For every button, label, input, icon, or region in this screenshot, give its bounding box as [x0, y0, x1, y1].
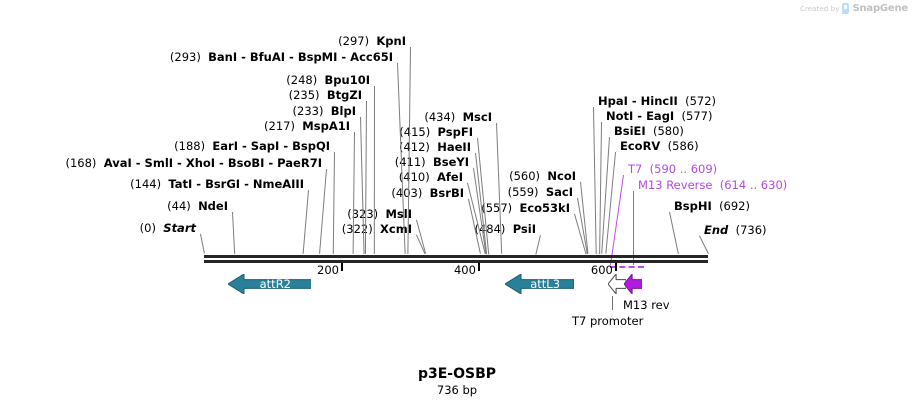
feature-caption-m13-rev: M13 rev: [623, 298, 670, 312]
feature-arrow-shape-t7-promoter: [608, 274, 626, 294]
enzyme-position-ncoi: (560): [509, 169, 540, 183]
enzyme-name-ecorv: EcoRV: [620, 139, 660, 153]
enzyme-position-bsphi: (692): [719, 199, 750, 213]
enzyme-name-ncoi: NcoI: [547, 169, 576, 183]
feature-caption-tick-t7-promoter: [612, 296, 613, 310]
enzyme-position-bani: (293): [170, 50, 201, 64]
enzyme-name-pspfi: PspFI: [438, 125, 473, 139]
ruler-tick-label-400: 400: [446, 263, 476, 277]
plasmid-name: p3E-OSBP: [0, 366, 914, 382]
enzyme-position-bseyi: (411): [395, 155, 426, 169]
enzyme-position-eco53ki: (557): [481, 201, 512, 215]
primer-label-t7: T7 (590 .. 609): [628, 163, 717, 175]
enzyme-position-end: (736): [736, 223, 767, 237]
primer-range-t7: (590 .. 609): [650, 162, 718, 176]
enzyme-name-bseyi: BseYI: [433, 155, 469, 169]
feature-attl3[interactable]: attL3: [505, 274, 573, 294]
enzyme-position-msci: (434): [424, 110, 455, 124]
enzyme-position-btgzi: (235): [289, 88, 320, 102]
enzyme-name-bani: BanI - BfuAI - BspMI - Acc65I: [208, 50, 393, 64]
enzyme-label-saci: (559) SacI: [0, 186, 573, 198]
primer-label-m13-reverse: M13 Reverse (614 .. 630): [638, 179, 787, 191]
enzyme-position-bsiei: (580): [653, 124, 684, 138]
ruler-tick-mark: [615, 263, 617, 271]
ruler-line-top: [204, 255, 708, 258]
enzyme-name-kpni: KpnI: [376, 34, 406, 48]
enzyme-position-hpai: (572): [685, 94, 716, 108]
enzyme-position-kpni: (297): [338, 34, 369, 48]
feature-t7-promoter[interactable]: [608, 274, 626, 294]
snapgene-watermark: Created by SnapGene: [800, 3, 908, 14]
enzyme-name-bpu10i: Bpu10I: [325, 73, 370, 87]
feature-label-attl3: attL3: [505, 277, 573, 291]
feature-attr2[interactable]: attR2: [228, 274, 312, 294]
enzyme-name-haeii: HaeII: [437, 140, 471, 154]
enzyme-position-saci: (559): [508, 185, 539, 199]
primer-name-m13-reverse: M13 Reverse: [638, 178, 712, 192]
watermark-created-by-label: Created by: [800, 5, 840, 13]
enzyme-name-psii: PsiI: [513, 222, 536, 236]
enzyme-name-end: End: [704, 223, 728, 237]
enzyme-name-bsphi: BspHI: [674, 199, 712, 213]
enzyme-label-bsphi: BspHI (692): [674, 200, 750, 212]
enzyme-position-pspfi: (415): [399, 125, 430, 139]
enzyme-label-noti: NotI - EagI (577): [606, 110, 712, 122]
enzyme-label-bani: (293) BanI - BfuAI - BspMI - Acc65I: [0, 51, 393, 63]
enzyme-label-msci: (434) MscI: [0, 111, 492, 123]
enzyme-label-pspfi: (415) PspFI: [0, 126, 473, 138]
enzyme-position-haeii: (412): [399, 140, 430, 154]
enzyme-label-ncoi: (560) NcoI: [0, 170, 576, 182]
enzyme-name-noti: NotI - EagI: [606, 109, 674, 123]
enzyme-position-noti: (577): [682, 109, 713, 123]
feature-caption-t7-promoter: T7 promoter: [572, 314, 643, 328]
feature-label-attr2: attR2: [228, 277, 312, 291]
enzyme-label-ecorv: EcoRV (586): [620, 140, 699, 152]
enzyme-label-btgzi: (235) BtgZI: [0, 89, 362, 101]
primer-range-m13-reverse: (614 .. 630): [720, 178, 788, 192]
enzyme-position-bpu10i: (248): [286, 73, 317, 87]
enzyme-label-hpai: HpaI - HincII (572): [598, 95, 716, 107]
leader-line-m13-reverse: [633, 191, 634, 265]
enzyme-label-bseyi: (411) BseYI: [0, 156, 469, 168]
ruler-tick-label-200: 200: [309, 263, 339, 277]
enzyme-name-hpai: HpaI - HincII: [598, 94, 678, 108]
ruler-tick-mark: [478, 263, 480, 271]
primer-name-t7: T7: [628, 162, 642, 176]
enzyme-name-eco53ki: Eco53kI: [519, 201, 570, 215]
enzyme-name-msci: MscI: [463, 110, 492, 124]
enzyme-name-bsiei: BsiEI: [614, 124, 646, 138]
enzyme-label-end: End (736): [704, 224, 767, 236]
feature-arrow-shape-m13-rev: [624, 274, 642, 294]
enzyme-name-btgzi: BtgZI: [327, 88, 362, 102]
enzyme-label-bsiei: BsiEI (580): [614, 125, 684, 137]
plasmid-size: 736 bp: [0, 383, 914, 397]
snapgene-logo-icon: [842, 3, 849, 14]
ruler-tick-mark: [341, 263, 343, 271]
feature-m13-rev[interactable]: [624, 274, 642, 294]
enzyme-label-bpu10i: (248) Bpu10I: [0, 74, 370, 86]
enzyme-position-ecorv: (586): [668, 139, 699, 153]
enzyme-label-psii: (484) PsiI: [0, 223, 536, 235]
watermark-brand-label: SnapGene: [852, 3, 908, 14]
leader-line-bpu10i: [374, 86, 375, 254]
enzyme-name-saci: SacI: [546, 185, 573, 199]
enzyme-label-kpni: (297) KpnI: [0, 35, 406, 47]
